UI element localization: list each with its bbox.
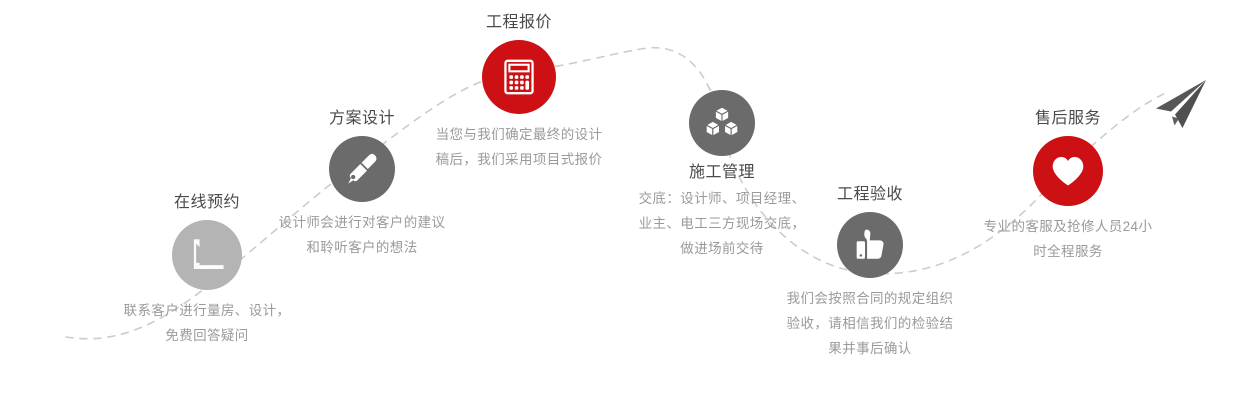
fountain-pen-nib-icon (329, 136, 395, 202)
step-1-title: 在线预约 (122, 192, 292, 214)
paper-plane-icon (1148, 78, 1210, 139)
heart-icon (1033, 136, 1103, 206)
step-6-description: 专业的客服及抢修人员24小时全程服务 (983, 214, 1153, 264)
service-process-flow-infographic: 在线预约 联 (0, 0, 1245, 402)
step-5-title: 工程验收 (785, 184, 955, 206)
step-5-description: 我们会按照合同的规定组织验收，请相信我们的检验结果并事后确认 (785, 286, 955, 361)
flow-step-3[interactable]: 工程报价 (434, 12, 604, 172)
step-3-description: 当您与我们确定最终的设计稿后，我们采用项目式报价 (434, 122, 604, 172)
flow-step-2[interactable]: 方案设计 设计师会进行对客户的建议和聆听客户的想法 (277, 108, 447, 260)
flow-step-1[interactable]: 在线预约 联 (122, 192, 292, 348)
stacked-boxes-icon (689, 90, 755, 156)
thumbs-up-icon (837, 212, 903, 278)
set-square-ruler-icon (172, 220, 242, 290)
step-4-title: 施工管理 (637, 162, 807, 184)
step-2-description: 设计师会进行对客户的建议和聆听客户的想法 (277, 210, 447, 260)
flow-step-4[interactable]: 施工管理 交底：设计师、项目经理、业主、电工三方现场交底，做进场前交待 (637, 90, 807, 261)
step-1-description: 联系客户进行量房、设计，免费回答疑问 (122, 298, 292, 348)
flow-step-6[interactable]: 售后服务 专业的客服及抢修人员24小时全程服务 (983, 108, 1153, 264)
calculator-icon (482, 40, 556, 114)
step-3-title: 工程报价 (434, 12, 604, 34)
step-2-title: 方案设计 (277, 108, 447, 130)
flow-step-5[interactable]: 工程验收 我们会按照合同的规定组织验收，请相信我们的检验结果并事后确认 (785, 184, 955, 361)
step-4-description: 交底：设计师、项目经理、业主、电工三方现场交底，做进场前交待 (637, 186, 807, 261)
step-6-title: 售后服务 (983, 108, 1153, 130)
